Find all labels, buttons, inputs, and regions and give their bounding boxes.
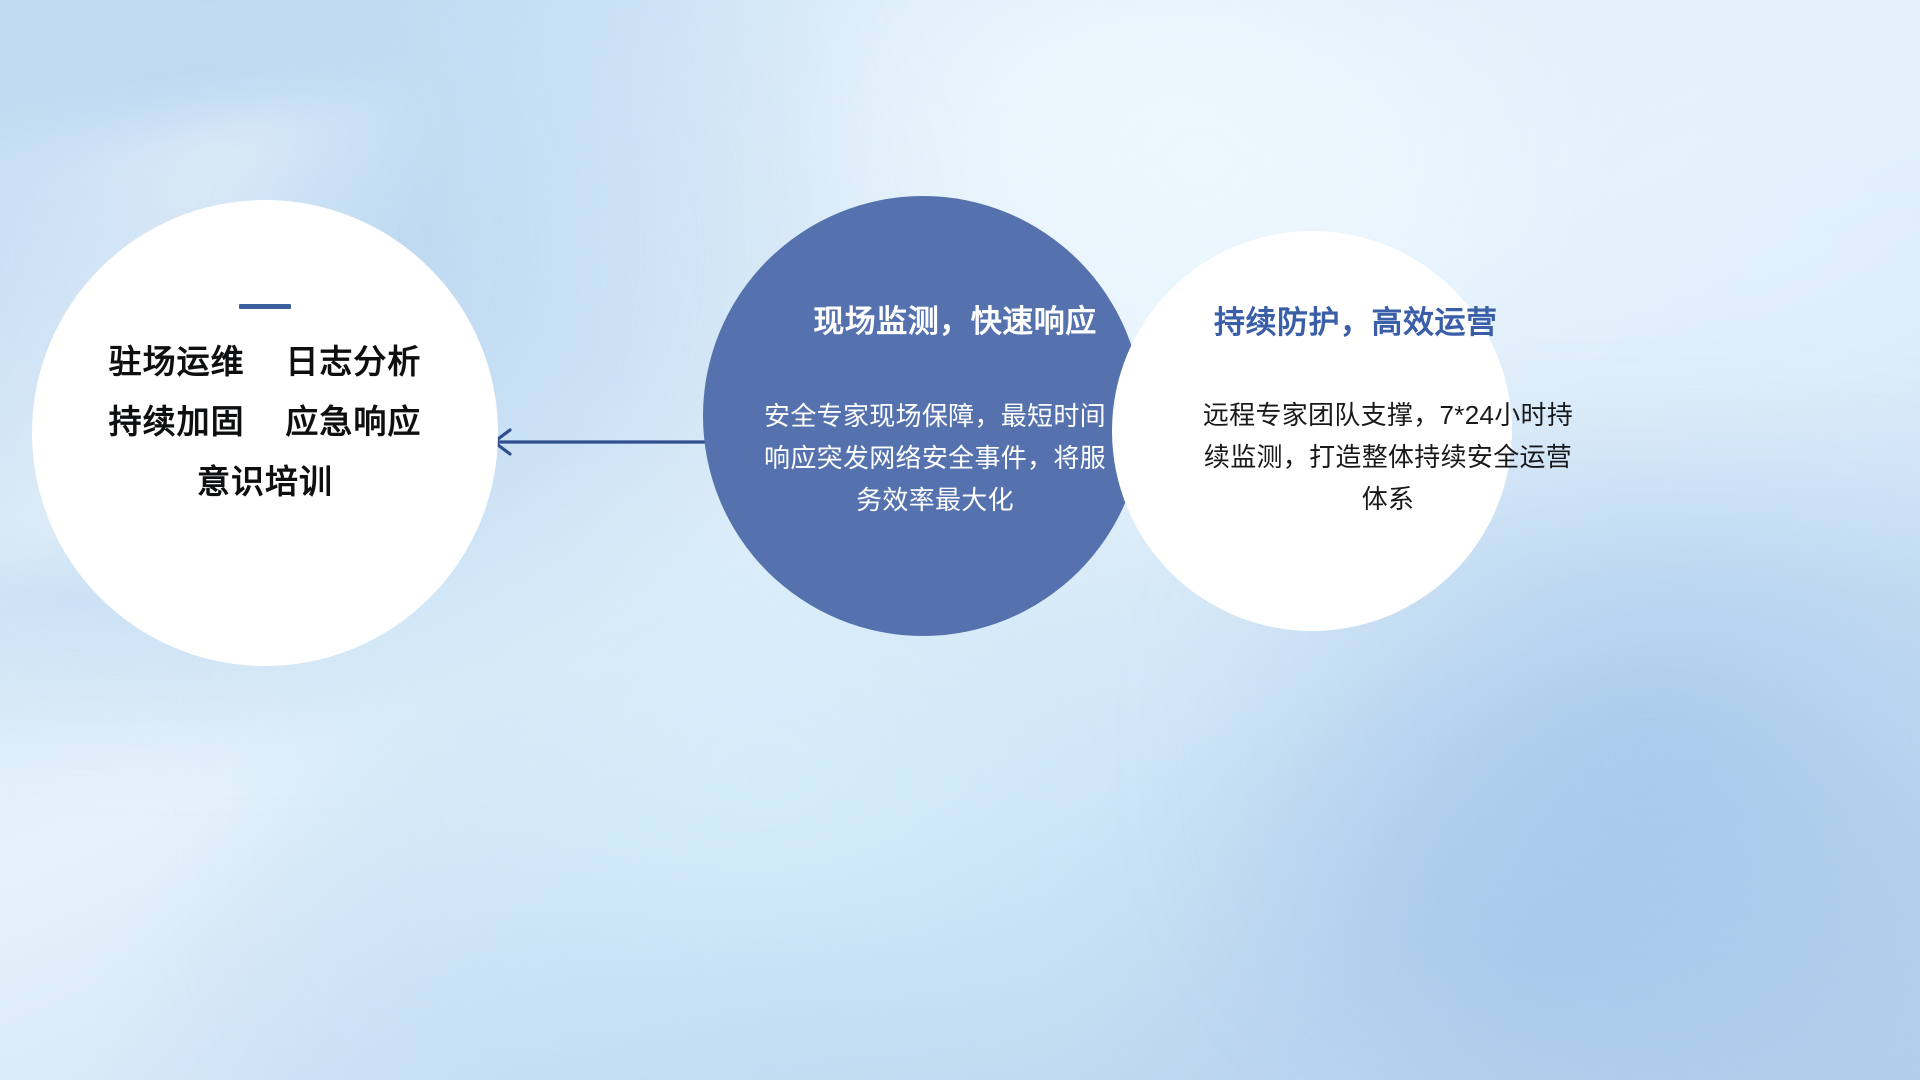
- continuous-protection-body: 远程专家团队支撑，7*24小时持续监测，打造整体持续安全运营体系: [1202, 394, 1574, 520]
- right-circle-content: 持续防护，高效运营 远程专家团队支撑，7*24小时持续监测，打造整体持续安全运营…: [1112, 297, 1512, 520]
- mid-circle-content: 现场监测，快速响应 安全专家现场保障，最短时间响应突发网络安全事件，将服务效率最…: [703, 296, 1143, 521]
- capability-line-1: 驻场运维 日志分析: [60, 345, 470, 378]
- continuous-protection-title: 持续防护，高效运营: [1214, 297, 1496, 342]
- onsite-monitoring-circle[interactable]: 现场监测，快速响应 安全专家现场保障，最短时间响应突发网络安全事件，将服务效率最…: [703, 196, 1143, 636]
- continuous-protection-circle[interactable]: 持续防护，高效运营 远程专家团队支撑，7*24小时持续监测，打造整体持续安全运营…: [1112, 231, 1512, 631]
- horizontal-dash-divider-icon: [239, 304, 291, 309]
- onsite-monitoring-body: 安全专家现场保障，最短时间响应突发网络安全事件，将服务效率最大化: [751, 395, 1119, 521]
- service-capability-circle[interactable]: 驻场运维 日志分析 持续加固 应急响应 意识培训: [32, 200, 498, 666]
- capability-line-2: 持续加固 应急响应: [60, 405, 470, 438]
- onsite-monitoring-title: 现场监测，快速响应: [791, 296, 1119, 341]
- left-circle-content: 驻场运维 日志分析 持续加固 应急响应 意识培训: [32, 304, 498, 498]
- capability-line-3: 意识培训: [60, 465, 470, 498]
